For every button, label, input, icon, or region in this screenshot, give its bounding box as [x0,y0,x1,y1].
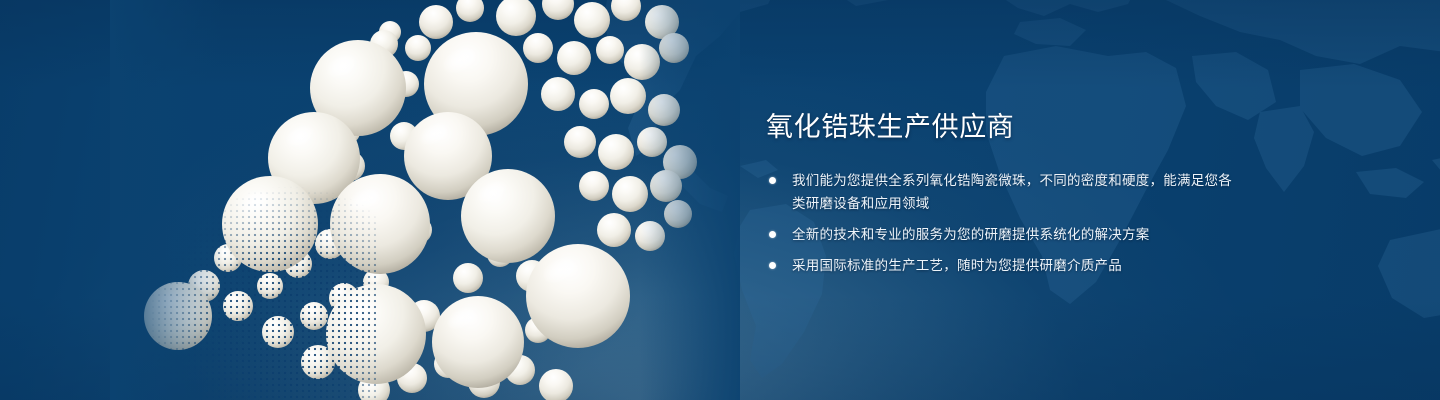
list-item: 采用国际标准的生产工艺，随时为您提供研磨介质产品 [766,254,1236,277]
list-item: 全新的技术和专业的服务为您的研磨提供系统化的解决方案 [766,223,1236,246]
bullet-dot-icon [769,231,776,238]
banner-copy: 氧化锆珠生产供应商 我们能为您提供全系列氧化锆陶瓷微珠，不同的密度和硬度，能满足… [766,110,1236,277]
bullet-dot-icon [769,177,776,184]
list-item-label: 采用国际标准的生产工艺，随时为您提供研磨介质产品 [792,258,1122,273]
list-item: 我们能为您提供全系列氧化锆陶瓷微珠，不同的密度和硬度，能满足您各类研磨设备和应用… [766,169,1236,215]
hero-banner: 氧化锆珠生产供应商 我们能为您提供全系列氧化锆陶瓷微珠，不同的密度和硬度，能满足… [0,0,1440,400]
list-item-label: 全新的技术和专业的服务为您的研磨提供系统化的解决方案 [792,227,1150,242]
feature-list: 我们能为您提供全系列氧化锆陶瓷微珠，不同的密度和硬度，能满足您各类研磨设备和应用… [766,169,1236,277]
list-item-label: 我们能为您提供全系列氧化锆陶瓷微珠，不同的密度和硬度，能满足您各类研磨设备和应用… [792,173,1232,211]
page-title: 氧化锆珠生产供应商 [766,110,1236,144]
bullet-dot-icon [769,262,776,269]
